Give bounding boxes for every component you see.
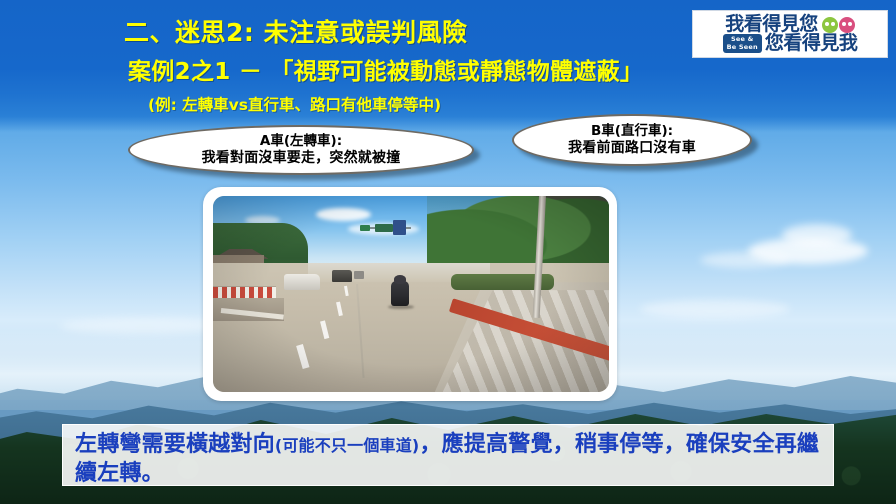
badge-line-2: Be Seen xyxy=(727,44,758,51)
bottom-caption: 左轉彎需要橫越對向(可能不只一個車道)，應提高警覺，稍事停等，確保安全再繼續左轉… xyxy=(62,424,834,486)
logo-text-line2: 您看得見我 xyxy=(765,34,858,53)
dashcam-photo xyxy=(213,196,609,392)
photo-traffic-light-icon xyxy=(360,225,370,231)
smiley-faces-icon xyxy=(822,17,855,33)
slide-root: 二、迷思2: 未注意或誤判風險 案例2之1 － 「視野可能被動態或靜態物體遮蔽」… xyxy=(0,0,896,504)
photo-motorcycle-rider xyxy=(391,281,409,306)
campaign-logo: 我看得見您 See & Be Seen 您看得見我 xyxy=(692,10,888,58)
page-subtitle: 案例2之1 － 「視野可能被動態或靜態物體遮蔽」 xyxy=(128,52,643,86)
logo-line-2: See & Be Seen 您看得見我 xyxy=(723,34,858,53)
page-title-note: (例: 左轉車vs直行車、路口有他車停等中) xyxy=(148,93,441,115)
see-and-be-seen-badge: See & Be Seen xyxy=(723,34,762,53)
caption-part-1: 左轉彎需要橫越對向 xyxy=(75,432,275,457)
callout-a-speaker: A車(左轉車): xyxy=(260,133,342,150)
caption-part-2: (可能不只一個車道) xyxy=(275,436,420,455)
photo-red-white-fence xyxy=(213,286,276,298)
dashcam-photo-frame xyxy=(203,187,617,401)
photo-parked-white-car xyxy=(284,274,320,290)
callout-b-speaker: B車(直行車): xyxy=(591,123,673,140)
green-face-icon xyxy=(822,17,838,33)
page-title: 二、迷思2: 未注意或誤判風險 xyxy=(124,13,468,49)
callout-a-quote: 我看對面沒車要走，突然就被撞 xyxy=(202,150,401,168)
photo-blue-road-sign xyxy=(393,220,406,236)
pink-face-icon xyxy=(839,17,855,33)
callout-b-quote: 我看前面路口沒有車 xyxy=(568,140,696,158)
cloud-shape xyxy=(640,300,790,318)
photo-dark-car xyxy=(332,270,352,282)
photo-green-road-sign xyxy=(375,224,393,232)
cloud-shape xyxy=(700,252,790,268)
cloud-shape xyxy=(782,224,852,246)
photo-rider-helmet xyxy=(394,275,406,283)
speech-callout-car-b: B車(直行車): 我看前面路口沒有車 xyxy=(512,114,752,166)
photo-distant-car xyxy=(354,271,364,278)
speech-callout-car-a: A車(左轉車): 我看對面沒車要走，突然就被撞 xyxy=(128,125,474,175)
